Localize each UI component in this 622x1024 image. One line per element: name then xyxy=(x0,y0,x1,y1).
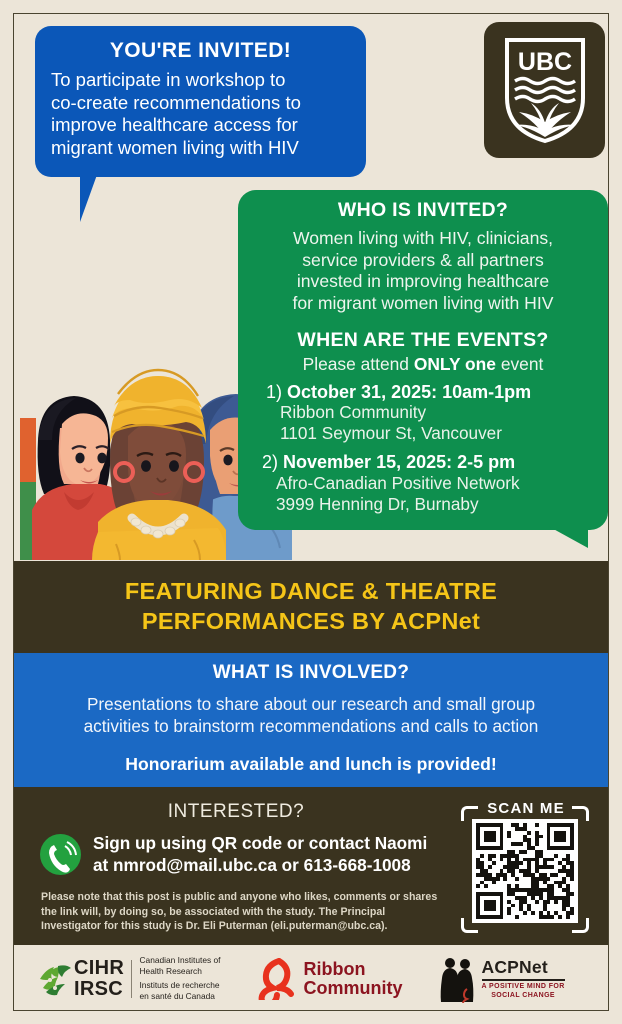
who-invited-title: WHO IS INVITED? xyxy=(238,190,608,222)
event-2-number: 2) xyxy=(262,452,278,472)
involved-title: WHAT IS INVOLVED? xyxy=(14,662,608,684)
invite-bubble-tail xyxy=(80,172,115,222)
cihr-wordmark: CIHR IRSC Canadian Institutes of Health … xyxy=(74,955,221,1002)
cihr-fullnames: Canadian Institutes of Health Research I… xyxy=(139,955,220,1002)
poster-root: YOU'RE INVITED! To participate in worksh… xyxy=(0,0,622,1024)
contact-text: Sign up using QR code or contact Naomi a… xyxy=(93,833,427,876)
ubc-shield-icon: UBC xyxy=(502,36,588,144)
cihr-fr-line-1: Instituts de recherche xyxy=(139,980,220,991)
cihr-logo: CIHR IRSC Canadian Institutes of Health … xyxy=(34,955,221,1002)
who-invited-bubble: WHO IS INVITED? Women living with HIV, c… xyxy=(238,190,608,530)
contact-line-1: Sign up using QR code or contact Naomi xyxy=(93,833,427,855)
event-1-heading: 1) October 31, 2025: 10am-1pm xyxy=(266,382,602,403)
who-invited-body: Women living with HIV, clinicians, servi… xyxy=(238,222,608,315)
invite-title: YOU'RE INVITED! xyxy=(35,26,366,63)
phone-glyph xyxy=(40,834,81,875)
cihr-acronym-fr: IRSC xyxy=(74,979,124,999)
invite-body-line-4: migrant women living with HIV xyxy=(51,137,352,160)
cihr-fr-line-2: en santé du Canada xyxy=(139,991,220,1002)
events-note: Please attend ONLY one event xyxy=(238,352,608,375)
interested-band: INTERESTED? Sign up using QR code or con… xyxy=(14,787,608,945)
event-item-1: 1) October 31, 2025: 10am-1pm Ribbon Com… xyxy=(238,375,608,444)
featuring-line-1: FEATURING DANCE & THEATRE xyxy=(125,577,497,607)
disclaimer-line-4: (eli.puterman@ubc.ca). xyxy=(271,920,388,932)
featuring-band: FEATURING DANCE & THEATRE PERFORMANCES B… xyxy=(14,561,608,653)
acpnet-tag-line-1: A POSITIVE MIND FOR xyxy=(482,983,565,992)
ribbon-line-2: Community xyxy=(304,979,403,998)
who-invited-bubble-tail xyxy=(548,526,588,548)
involved-body-line-2: activities to brainstorm recommendations… xyxy=(30,716,592,738)
acpnet-wordmark: ACPNet A POSITIVE MIND FOR SOCIAL CHANGE xyxy=(482,957,565,1001)
ubc-wordmark: UBC xyxy=(517,48,571,76)
cihr-fr-block: Instituts de recherche en santé du Canad… xyxy=(139,980,220,1002)
ribbon-community-logo: Ribbon Community xyxy=(257,958,403,1000)
ubc-logo: UBC xyxy=(484,22,605,158)
event-2-address: 3999 Henning Dr, Burnaby xyxy=(262,494,602,515)
acpnet-name: ACPNet xyxy=(482,957,565,981)
invite-body-line-2: co-create recommendations to xyxy=(51,92,352,115)
cihr-en-line-1: Canadian Institutes of xyxy=(139,955,220,966)
ribbon-icon xyxy=(257,958,297,1000)
event-2-heading: 2) November 15, 2025: 2-5 pm xyxy=(262,452,602,473)
acpnet-tag-line-2: SOCIAL CHANGE xyxy=(482,992,565,1001)
ribbon-line-1: Ribbon xyxy=(304,960,403,979)
ribbon-wordmark: Ribbon Community xyxy=(304,960,403,997)
who-body-line-1: Women living with HIV, clinicians, xyxy=(247,228,599,250)
featuring-text: FEATURING DANCE & THEATRE PERFORMANCES B… xyxy=(125,577,497,636)
featuring-line-2: PERFORMANCES BY ACPNet xyxy=(125,607,497,637)
acpnet-tagline: A POSITIVE MIND FOR SOCIAL CHANGE xyxy=(482,981,565,1001)
event-1-address: 1101 Seymour St, Vancouver xyxy=(266,423,602,444)
cihr-divider xyxy=(131,960,132,998)
event-1-datetime: October 31, 2025: 10am-1pm xyxy=(287,382,531,402)
event-2-venue: Afro-Canadian Positive Network xyxy=(262,473,602,494)
event-1-venue: Ribbon Community xyxy=(266,402,602,423)
cihr-en-line-2: Health Research xyxy=(139,966,220,977)
contact-line-2: at nmrod@mail.ubc.ca or 613-668-1008 xyxy=(93,855,427,877)
events-note-emphasis: ONLY one xyxy=(414,354,496,374)
events-note-post: event xyxy=(496,354,543,374)
involved-body: Presentations to share about our researc… xyxy=(14,684,608,737)
qr-modules xyxy=(476,823,574,919)
event-item-2: 2) November 15, 2025: 2-5 pm Afro-Canadi… xyxy=(238,443,608,514)
maple-leaf-icon xyxy=(34,959,74,999)
event-2-datetime: November 15, 2025: 2-5 pm xyxy=(283,452,515,472)
qr-frame xyxy=(461,819,589,923)
acpnet-logo: ACPNet A POSITIVE MIND FOR SOCIAL CHANGE xyxy=(437,955,565,1003)
event-1-number: 1) xyxy=(266,382,282,402)
disclaimer-line-1: Please note that this post is public and… xyxy=(41,891,400,903)
involved-body-line-1: Presentations to share about our researc… xyxy=(30,694,592,716)
invite-body-line-3: improve healthcare access for xyxy=(51,114,352,137)
footer-logos: CIHR IRSC Canadian Institutes of Health … xyxy=(14,947,608,1010)
cihr-acronyms: CIHR IRSC xyxy=(74,958,124,999)
phone-icon xyxy=(40,834,81,875)
who-body-line-3: invested in improving healthcare xyxy=(247,271,599,293)
qr-block[interactable]: SCAN ME xyxy=(461,800,591,923)
qr-code-image[interactable] xyxy=(472,819,578,923)
cihr-acronym-en: CIHR xyxy=(74,958,124,978)
two-figures-icon xyxy=(437,955,479,1003)
involved-band: WHAT IS INVOLVED? Presentations to share… xyxy=(14,653,608,787)
who-body-line-4: for migrant women living with HIV xyxy=(247,293,599,315)
events-title: WHEN ARE THE EVENTS? xyxy=(238,315,608,352)
invite-body: To participate in workshop to co-create … xyxy=(35,63,366,159)
events-note-pre: Please attend xyxy=(303,354,414,374)
cihr-en-block: Canadian Institutes of Health Research xyxy=(139,955,220,980)
who-body-line-2: service providers & all partners xyxy=(247,250,599,272)
invite-bubble: YOU'RE INVITED! To participate in worksh… xyxy=(35,26,366,177)
invite-body-line-1: To participate in workshop to xyxy=(51,69,352,92)
honorarium-text: Honorarium available and lunch is provid… xyxy=(14,737,608,775)
